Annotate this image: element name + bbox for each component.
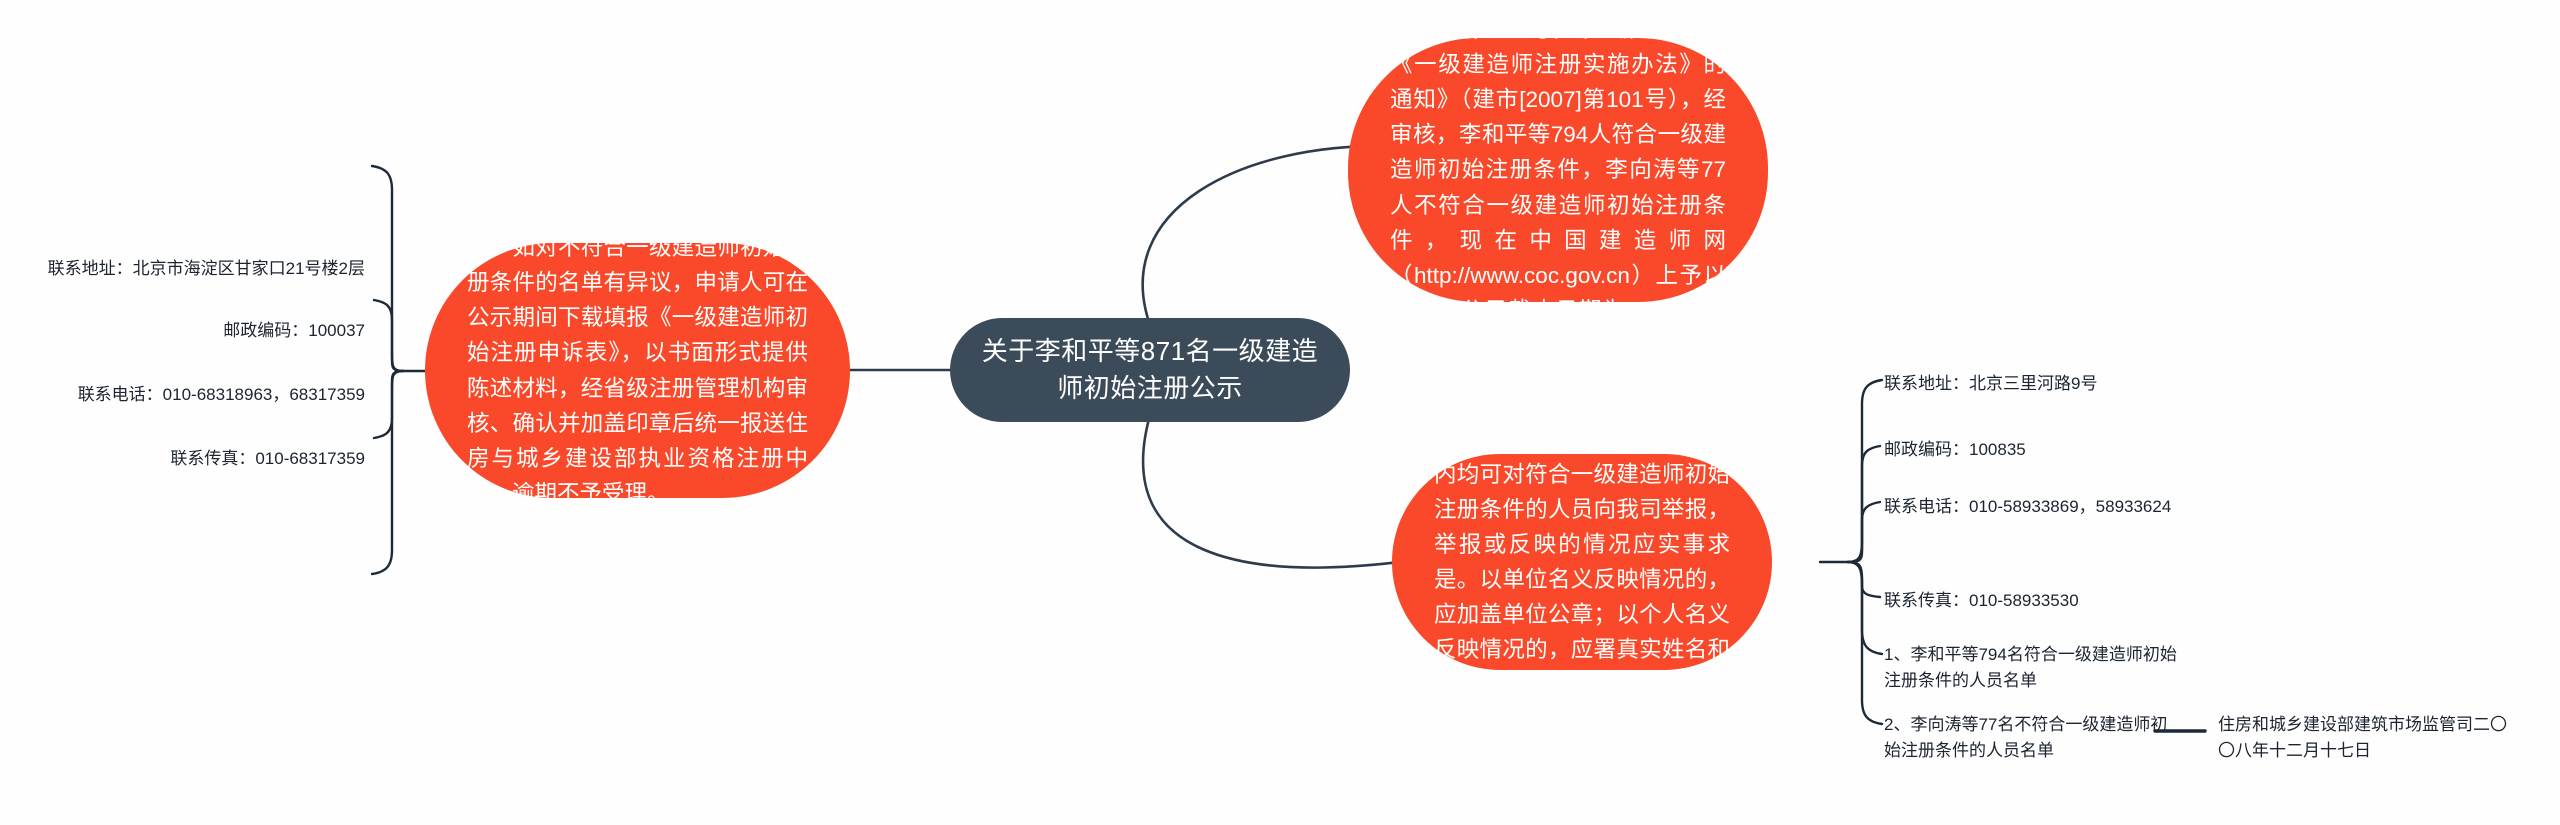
connector-left-branch-2 [374,300,403,371]
leaf-left-fax[interactable]: 联系传真：010-68317359 [20,446,365,472]
leaf-left-postcode-label: 邮政编码：100037 [223,321,365,340]
leaf-right-unqualified-list[interactable]: 2、李向涛等77名不符合一级建造师初始注册条件的人员名单 [1884,712,2184,765]
topic-node-report-label: 二、任何单位和个人在公示期内均可对符合一级建造师初始注册条件的人员向我司举报，举… [1434,422,1730,703]
leaf-right-postcode-label: 邮政编码：100835 [1884,440,2026,459]
connector-right-b4 [1848,562,1880,597]
connector-right-b1 [1848,380,1882,562]
center-node-label: 关于李和平等871名一级建造师初始注册公示 [976,333,1324,407]
leaf-right-address-label: 联系地址：北京三里河路9号 [1884,374,2097,393]
leaf-right-qualified-list-label: 1、李和平等794名符合一级建造师初始注册条件的人员名单 [1884,645,2177,690]
connector-left-spine [372,166,403,371]
signature-label: 住房和城乡建设部建筑市场监管司二〇〇八年十二月十七日 [2218,715,2507,760]
leaf-left-address-label: 联系地址：北京市海淀区甘家口21号楼2层 [48,259,365,278]
topic-node-appeal[interactable]: 一、如对不符合一级建造师初始注册条件的名单有异议，申请人可在公示期间下载填报《一… [425,243,850,498]
connector-left-branch-3 [374,371,403,438]
connector-right-b6 [1848,562,1882,724]
topic-node-basis[interactable]: 根据《注册建造师管理规定》（建设部令第153号）和《关于印发《一级建造师注册实施… [1348,38,1768,302]
leaf-left-postcode[interactable]: 邮政编码：100037 [20,318,365,344]
connector-left-branch-4 [372,371,403,574]
leaf-right-fax[interactable]: 联系传真：010-58933530 [1884,588,2079,614]
leaf-left-fax-label: 联系传真：010-68317359 [170,449,365,468]
leaf-right-unqualified-list-label: 2、李向涛等77名不符合一级建造师初始注册条件的人员名单 [1884,715,2167,760]
topic-node-basis-label: 根据《注册建造师管理规定》（建设部令第153号）和《关于印发《一级建造师注册实施… [1390,0,1726,363]
center-node[interactable]: 关于李和平等871名一级建造师初始注册公示 [950,318,1350,422]
connector-right-b2 [1848,446,1880,562]
leaf-right-qualified-list[interactable]: 1、李和平等794名符合一级建造师初始注册条件的人员名单 [1884,642,2184,695]
connector-right-b5 [1848,562,1882,654]
leaf-left-phone[interactable]: 联系电话：010-68318963，68317359 [20,382,365,408]
signature-block[interactable]: 住房和城乡建设部建筑市场监管司二〇〇八年十二月十七日 [2218,712,2508,765]
leaf-right-address[interactable]: 联系地址：北京三里河路9号 [1884,371,2097,397]
connector-right-b3 [1848,502,1880,562]
connector-center-to-bottom [1143,415,1400,568]
leaf-right-phone-label: 联系电话：010-58933869，58933624 [1884,497,2171,516]
leaf-right-fax-label: 联系传真：010-58933530 [1884,591,2079,610]
topic-node-report[interactable]: 二、任何单位和个人在公示期内均可对符合一级建造师初始注册条件的人员向我司举报，举… [1392,454,1772,670]
topic-node-appeal-label: 一、如对不符合一级建造师初始注册条件的名单有异议，申请人可在公示期间下载填报《一… [467,230,808,511]
leaf-left-phone-label: 联系电话：010-68318963，68317359 [78,385,365,404]
leaf-right-phone[interactable]: 联系电话：010-58933869，58933624 [1884,494,2171,520]
leaf-right-postcode[interactable]: 邮政编码：100835 [1884,437,2026,463]
leaf-left-address[interactable]: 联系地址：北京市海淀区甘家口21号楼2层 [20,256,365,282]
mindmap-canvas: 关于李和平等871名一级建造师初始注册公示 一、如对不符合一级建造师初始注册条件… [0,0,2560,825]
